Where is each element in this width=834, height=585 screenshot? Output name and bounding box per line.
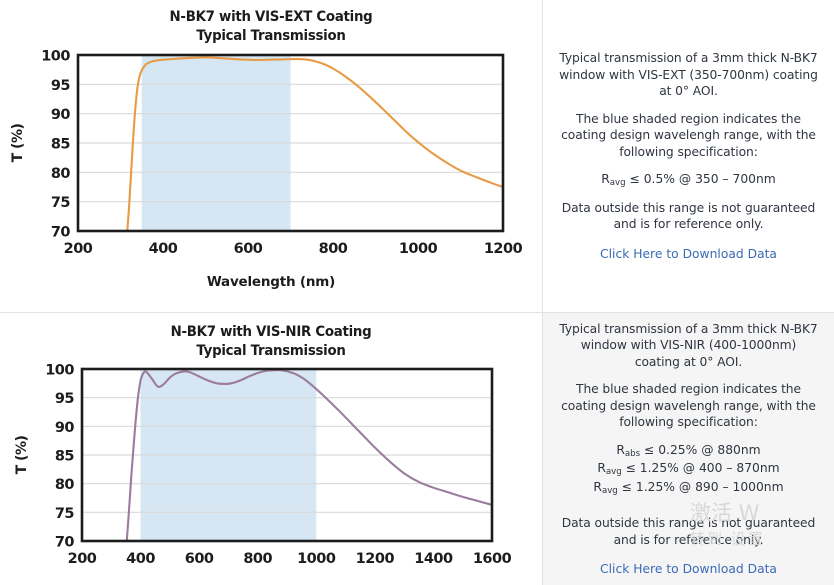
vis-nir-description-cell: Typical transmission of a 3mm thick N-BK… bbox=[543, 313, 834, 585]
y-tick-label: 85 bbox=[55, 449, 75, 465]
vis-nir-plot-svg: 707580859095100 200400600800100012001400… bbox=[0, 361, 543, 585]
y-tick-label: 75 bbox=[51, 195, 71, 211]
y-tick-label: 90 bbox=[55, 420, 75, 436]
vis-ext-description-cell: Typical transmission of a 3mm thick N-BK… bbox=[543, 0, 834, 312]
transmission-curves-page: N-BK7 with VIS-EXT Coating Typical Trans… bbox=[0, 0, 834, 585]
x-tick-label: 1600 bbox=[473, 551, 512, 567]
vis-nir-chart-cell: N-BK7 with VIS-NIR Coating Typical Trans… bbox=[0, 313, 543, 585]
y-tick-label: 85 bbox=[51, 137, 71, 153]
y-axis-label: T (%) bbox=[10, 124, 26, 163]
x-tick-label: 1200 bbox=[356, 551, 395, 567]
x-tick-label: 1400 bbox=[414, 551, 453, 567]
download-data-link[interactable]: Click Here to Download Data bbox=[600, 246, 777, 262]
y-tick-label: 80 bbox=[55, 477, 75, 493]
x-tick-label: 600 bbox=[185, 551, 214, 567]
chart-title-line1: N-BK7 with VIS-EXT Coating bbox=[170, 9, 373, 25]
vis-ext-description-2: The blue shaded region indicates the coa… bbox=[557, 111, 820, 161]
y-tick-label: 95 bbox=[51, 78, 71, 94]
y-tick-label: 100 bbox=[41, 49, 70, 65]
vis-ext-chart-title: N-BK7 with VIS-EXT Coating Typical Trans… bbox=[22, 8, 521, 46]
spec-line: Rabs ≤ 0.25% @ 880nm bbox=[593, 442, 783, 461]
vis-ext-description-3: Data outside this range is not guarantee… bbox=[557, 200, 820, 233]
y-tick-label: 70 bbox=[51, 225, 71, 241]
vis-nir-plot: 707580859095100 200400600800100012001400… bbox=[0, 361, 542, 585]
x-tick-label: 400 bbox=[126, 551, 155, 567]
x-tick-label: 1200 bbox=[484, 241, 523, 257]
chart-title-line2: Typical Transmission bbox=[22, 27, 521, 46]
y-tick-label: 70 bbox=[55, 535, 75, 551]
vis-ext-plot-svg: 707580859095100 20040060080010001200 T (… bbox=[0, 46, 543, 271]
x-tick-label: 600 bbox=[234, 241, 263, 257]
chart-title-line2: Typical Transmission bbox=[22, 342, 521, 361]
spec-line: Ravg ≤ 1.25% @ 890 – 1000nm bbox=[593, 479, 783, 498]
vis-ext-chart-cell: N-BK7 with VIS-EXT Coating Typical Trans… bbox=[0, 0, 543, 312]
vis-ext-description-1: Typical transmission of a 3mm thick N-BK… bbox=[557, 50, 820, 100]
y-tick-label: 90 bbox=[51, 107, 71, 123]
chart-title-line1: N-BK7 with VIS-NIR Coating bbox=[171, 324, 372, 340]
x-axis-tick-labels: 20040060080010001200 bbox=[64, 241, 523, 257]
x-tick-label: 1000 bbox=[399, 241, 438, 257]
spec-line: Ravg ≤ 0.5% @ 350 – 700nm bbox=[601, 171, 776, 190]
x-tick-label: 1000 bbox=[297, 551, 336, 567]
download-data-link[interactable]: Click Here to Download Data bbox=[600, 561, 777, 577]
vis-ext-specification: Ravg ≤ 0.5% @ 350 – 700nm bbox=[601, 171, 776, 190]
y-axis-tick-labels: 707580859095100 bbox=[45, 363, 74, 551]
vis-nir-chart-title: N-BK7 with VIS-NIR Coating Typical Trans… bbox=[22, 323, 521, 361]
vis-nir-row: N-BK7 with VIS-NIR Coating Typical Trans… bbox=[0, 313, 834, 585]
vis-ext-row: N-BK7 with VIS-EXT Coating Typical Trans… bbox=[0, 0, 834, 313]
x-tick-label: 200 bbox=[64, 241, 93, 257]
x-tick-label: 200 bbox=[68, 551, 97, 567]
x-tick-label: 800 bbox=[319, 241, 348, 257]
y-axis-label: T (%) bbox=[14, 436, 30, 475]
x-axis-tick-labels: 2004006008001000120014001600 bbox=[68, 551, 512, 567]
y-tick-label: 80 bbox=[51, 166, 71, 182]
x-tick-label: 800 bbox=[243, 551, 272, 567]
vis-nir-specification: Rabs ≤ 0.25% @ 880nmRavg ≤ 1.25% @ 400 –… bbox=[593, 442, 783, 498]
x-tick-label: 400 bbox=[149, 241, 178, 257]
x-axis-label: Wavelength (nm) bbox=[0, 274, 542, 290]
vis-nir-description-3: Data outside this range is not guarantee… bbox=[557, 515, 820, 548]
vis-ext-plot: 707580859095100 20040060080010001200 T (… bbox=[0, 46, 542, 276]
vis-nir-description-2: The blue shaded region indicates the coa… bbox=[557, 381, 820, 431]
y-axis-tick-labels: 707580859095100 bbox=[41, 49, 70, 241]
spec-line: Ravg ≤ 1.25% @ 400 – 870nm bbox=[593, 460, 783, 479]
y-tick-label: 100 bbox=[45, 363, 74, 379]
y-tick-label: 95 bbox=[55, 391, 75, 407]
y-tick-label: 75 bbox=[55, 506, 75, 522]
vis-nir-description-1: Typical transmission of a 3mm thick N-BK… bbox=[557, 321, 820, 371]
